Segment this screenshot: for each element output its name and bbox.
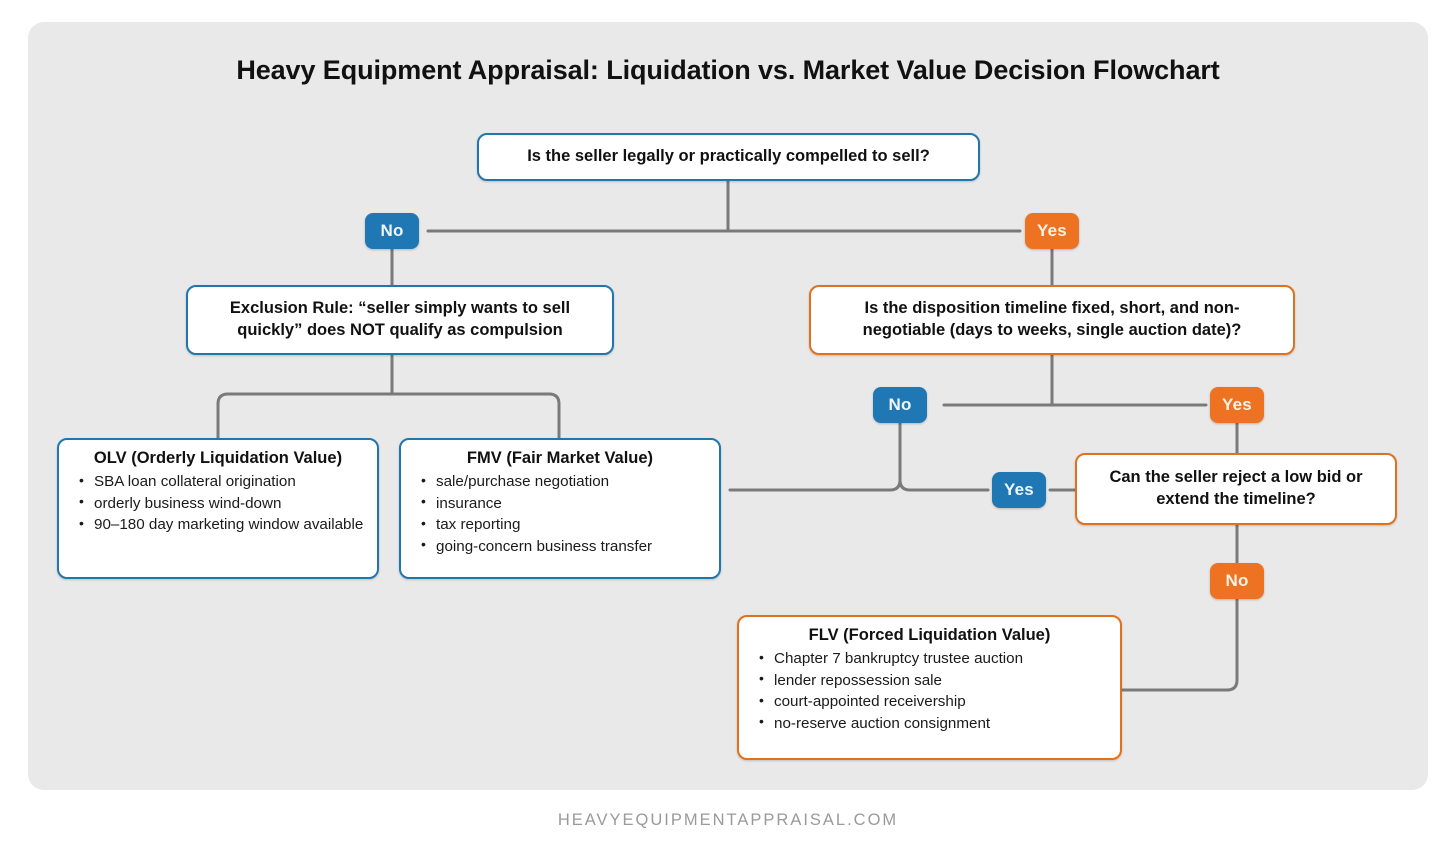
list-item: court-appointed receivership: [758, 691, 1107, 713]
badge-reject-no-label: No: [1225, 571, 1248, 591]
link-exclusion-to-olv: [218, 394, 392, 438]
list-item: sale/purchase negotiation: [420, 471, 706, 493]
node-flv-list: Chapter 7 bankruptcy trustee auction len…: [752, 648, 1107, 734]
list-item: Chapter 7 bankruptcy trustee auction: [758, 648, 1107, 670]
node-exclusion-rule-text: Exclusion Rule: “seller simply wants to …: [202, 298, 598, 342]
node-flv-title: FLV (Forced Liquidation Value): [752, 626, 1107, 645]
list-item: SBA loan collateral origination: [78, 471, 364, 493]
badge-reject-yes[interactable]: Yes: [992, 472, 1046, 508]
node-root-question-text: Is the seller legally or practically com…: [527, 146, 930, 168]
badge-root-no[interactable]: No: [365, 213, 419, 249]
badge-reject-yes-label: Yes: [1004, 480, 1034, 500]
badge-root-no-label: No: [380, 221, 403, 241]
link-rejectno-to-flv: [1122, 599, 1237, 690]
badge-timeline-yes[interactable]: Yes: [1210, 387, 1264, 423]
flowchart-canvas: Heavy Equipment Appraisal: Liquidation v…: [0, 0, 1456, 852]
list-item: going-concern business transfer: [420, 536, 706, 558]
badge-timeline-yes-label: Yes: [1222, 395, 1252, 415]
badge-timeline-no-label: No: [888, 395, 911, 415]
list-item: no-reserve auction consignment: [758, 713, 1107, 735]
node-flv[interactable]: FLV (Forced Liquidation Value) Chapter 7…: [737, 615, 1122, 760]
node-fmv-list: sale/purchase negotiation insurance tax …: [414, 471, 706, 557]
list-item: lender repossession sale: [758, 670, 1107, 692]
link-timelineno-to-rejectyes: [900, 470, 988, 490]
node-timeline-question-text: Is the disposition timeline fixed, short…: [825, 298, 1279, 342]
badge-timeline-no[interactable]: No: [873, 387, 927, 423]
node-root-question[interactable]: Is the seller legally or practically com…: [477, 133, 980, 181]
node-olv[interactable]: OLV (Orderly Liquidation Value) SBA loan…: [57, 438, 379, 579]
badge-root-yes[interactable]: Yes: [1025, 213, 1079, 249]
node-fmv-title: FMV (Fair Market Value): [414, 449, 706, 468]
node-fmv[interactable]: FMV (Fair Market Value) sale/purchase ne…: [399, 438, 721, 579]
node-olv-list: SBA loan collateral origination orderly …: [72, 471, 364, 536]
link-timelineno-to-fmv: [730, 423, 900, 490]
link-exclusion-to-fmv: [392, 394, 559, 438]
node-olv-title: OLV (Orderly Liquidation Value): [72, 449, 364, 468]
node-reject-question[interactable]: Can the seller reject a low bid or exten…: [1075, 453, 1397, 525]
list-item: orderly business wind-down: [78, 493, 364, 515]
footer-watermark: HEAVYEQUIPMENTAPPRAISAL.COM: [0, 811, 1456, 830]
list-item: 90–180 day marketing window available: [78, 514, 364, 536]
node-timeline-question[interactable]: Is the disposition timeline fixed, short…: [809, 285, 1295, 355]
badge-root-yes-label: Yes: [1037, 221, 1067, 241]
connector-layer: [0, 0, 1456, 852]
list-item: tax reporting: [420, 514, 706, 536]
node-exclusion-rule[interactable]: Exclusion Rule: “seller simply wants to …: [186, 285, 614, 355]
node-reject-question-text: Can the seller reject a low bid or exten…: [1091, 467, 1381, 511]
badge-reject-no[interactable]: No: [1210, 563, 1264, 599]
list-item: insurance: [420, 493, 706, 515]
